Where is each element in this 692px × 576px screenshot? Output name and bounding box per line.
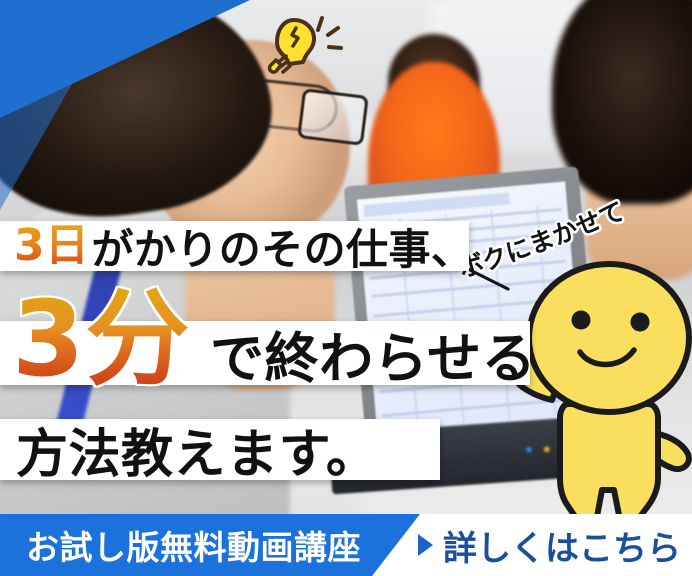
- headline-2-text: で終わらせる: [210, 314, 536, 393]
- headline-band-1: 3日 がかりのその仕事、: [0, 221, 469, 271]
- headline-band-3: 方法教えます。: [0, 419, 440, 480]
- promo-banner: ボクにまかせて 3日 がかりのその仕事、 3分 で終わらせる 方法教えます。: [0, 0, 692, 576]
- headline-band-2: 3分 で終わらせる: [0, 321, 530, 385]
- mascot-eye-right: [631, 313, 650, 332]
- headline-1-text: がかりのその仕事、: [92, 216, 474, 277]
- cta-bar[interactable]: お試し版無料動画講座 詳しくはこちら: [0, 514, 692, 576]
- corner-triangle-primary: [0, 0, 250, 118]
- headline-1-highlight: 3日: [14, 224, 90, 268]
- headline-2-highlight: 3分: [12, 287, 190, 391]
- cta-details-link[interactable]: 詳しくはこちら: [418, 514, 681, 576]
- cta-primary-label: お試し版無料動画講座: [26, 521, 361, 569]
- man-glasses-lens: [297, 88, 369, 146]
- headline-3-text: 方法教えます。: [16, 412, 378, 487]
- cta-primary-panel[interactable]: お試し版無料動画講座: [0, 514, 420, 576]
- mascot-eye-left: [572, 311, 591, 330]
- lightbulb-icon: [258, 4, 350, 76]
- cta-link-label: 詳しくはこちら: [443, 521, 681, 570]
- arrow-right-icon: [418, 534, 433, 556]
